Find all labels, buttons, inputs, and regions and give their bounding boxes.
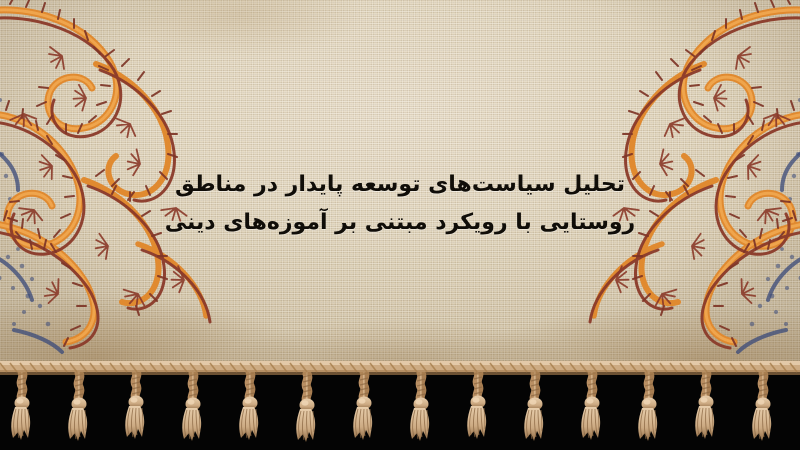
banner-title: تحلیل سیاست‌های توسعه پایدار در مناطق رو…: [0, 166, 800, 242]
braided-edge-cord: [0, 355, 800, 375]
title-line-1: تحلیل سیاست‌های توسعه پایدار در مناطق: [0, 166, 800, 204]
knotted-tassel-fringe: [0, 370, 800, 450]
textile-panel: تحلیل سیاست‌های توسعه پایدار در مناطق رو…: [0, 0, 800, 372]
banner-canvas: تحلیل سیاست‌های توسعه پایدار در مناطق رو…: [0, 0, 800, 450]
title-line-2: روستایی با رویکرد مبتنی بر آموزه‌های دین…: [0, 204, 800, 242]
